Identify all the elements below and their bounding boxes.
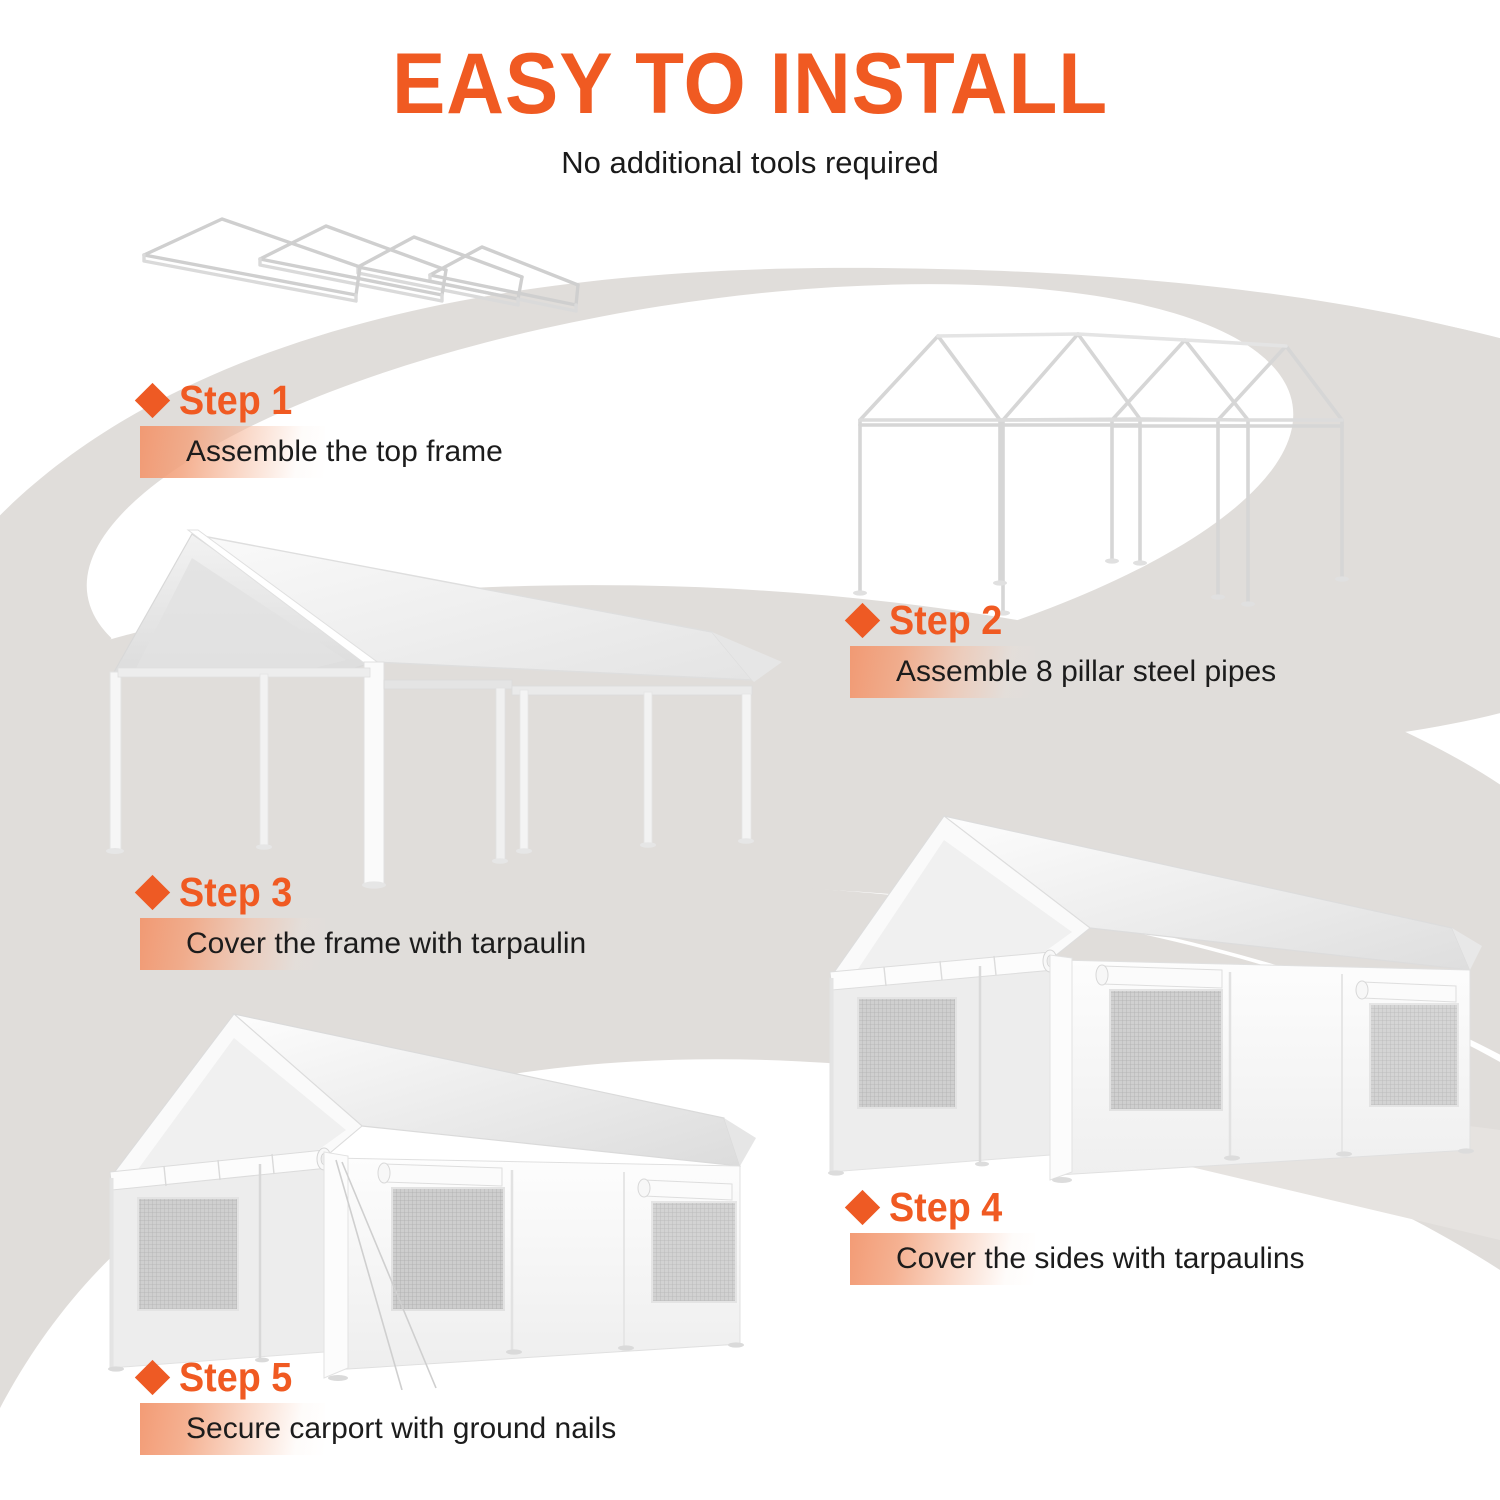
step-4-title: Step 4 bbox=[889, 1184, 1002, 1231]
illustration-step-5 bbox=[84, 1000, 774, 1390]
step-3-description: Cover the frame with tarpaulin bbox=[140, 918, 586, 970]
step-3-title: Step 3 bbox=[179, 869, 292, 916]
step-5-title: Step 5 bbox=[179, 1354, 292, 1401]
illustration-step-3 bbox=[92, 512, 782, 892]
step-block-1: Step 1 Assemble the top frame bbox=[140, 378, 503, 478]
step-5-description: Secure carport with ground nails bbox=[140, 1403, 616, 1455]
diamond-bullet-icon bbox=[135, 1359, 170, 1394]
step-2-body: Assemble 8 pillar steel pipes bbox=[850, 646, 1276, 698]
step-3-head: Step 3 bbox=[140, 870, 586, 914]
step-2-title: Step 2 bbox=[889, 597, 1002, 644]
step-block-4: Step 4 Cover the sides with tarpaulins bbox=[850, 1185, 1305, 1285]
diamond-bullet-icon bbox=[135, 874, 170, 909]
page-title: EASY TO INSTALL bbox=[53, 38, 1448, 130]
step-2-head: Step 2 bbox=[850, 598, 1276, 642]
step-1-title: Step 1 bbox=[179, 377, 292, 424]
infographic-page: EASY TO INSTALL No additional tools requ… bbox=[0, 0, 1500, 1500]
step-block-2: Step 2 Assemble 8 pillar steel pipes bbox=[850, 598, 1276, 698]
step-4-description: Cover the sides with tarpaulins bbox=[850, 1233, 1305, 1285]
step-1-body: Assemble the top frame bbox=[140, 426, 503, 478]
step-2-description: Assemble 8 pillar steel pipes bbox=[850, 646, 1276, 698]
illustration-step-4 bbox=[822, 800, 1492, 1200]
step-5-body: Secure carport with ground nails bbox=[140, 1403, 616, 1455]
header-block: EASY TO INSTALL No additional tools requ… bbox=[0, 38, 1500, 182]
step-4-head: Step 4 bbox=[850, 1185, 1305, 1229]
step-3-body: Cover the frame with tarpaulin bbox=[140, 918, 586, 970]
step-block-5: Step 5 Secure carport with ground nails bbox=[140, 1355, 616, 1455]
diamond-bullet-icon bbox=[845, 1189, 880, 1224]
illustration-step-1 bbox=[130, 215, 670, 360]
step-1-description: Assemble the top frame bbox=[140, 426, 503, 478]
step-4-body: Cover the sides with tarpaulins bbox=[850, 1233, 1305, 1285]
step-block-3: Step 3 Cover the frame with tarpaulin bbox=[140, 870, 586, 970]
page-subtitle: No additional tools required bbox=[0, 144, 1500, 182]
diamond-bullet-icon bbox=[845, 602, 880, 637]
step-1-head: Step 1 bbox=[140, 378, 503, 422]
step-5-head: Step 5 bbox=[140, 1355, 616, 1399]
diamond-bullet-icon bbox=[135, 382, 170, 417]
illustration-step-2 bbox=[840, 320, 1370, 620]
